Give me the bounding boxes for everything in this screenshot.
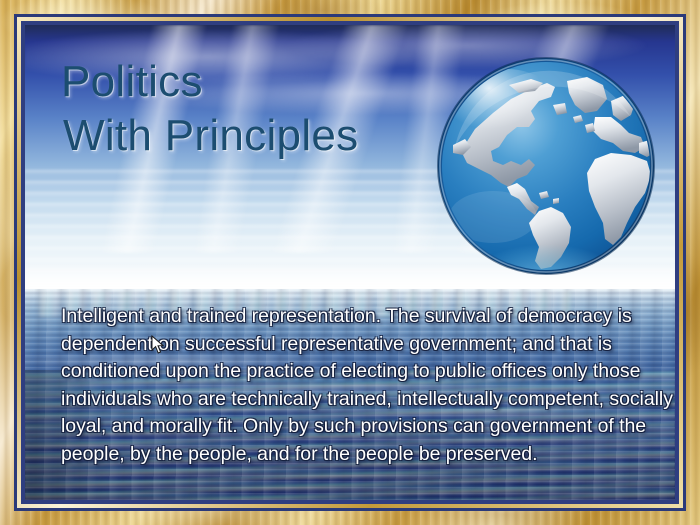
frame-bevel-inner-navy: Politics With Principles Intelligent and… bbox=[21, 21, 679, 504]
frame-bevel-gold-line: Politics With Principles Intelligent and… bbox=[17, 17, 683, 508]
slide-body-text: Intelligent and trained representation. … bbox=[61, 303, 675, 468]
slide-title-line-2: With Principles bbox=[61, 109, 461, 163]
slide-title-line-1: Politics bbox=[61, 55, 461, 109]
background-photo: Politics With Principles Intelligent and… bbox=[25, 25, 675, 500]
frame-bevel-outer-navy: Politics With Principles Intelligent and… bbox=[14, 14, 686, 511]
presentation-slide: Politics With Principles Intelligent and… bbox=[0, 0, 700, 525]
slide-title: Politics With Principles bbox=[61, 55, 461, 162]
